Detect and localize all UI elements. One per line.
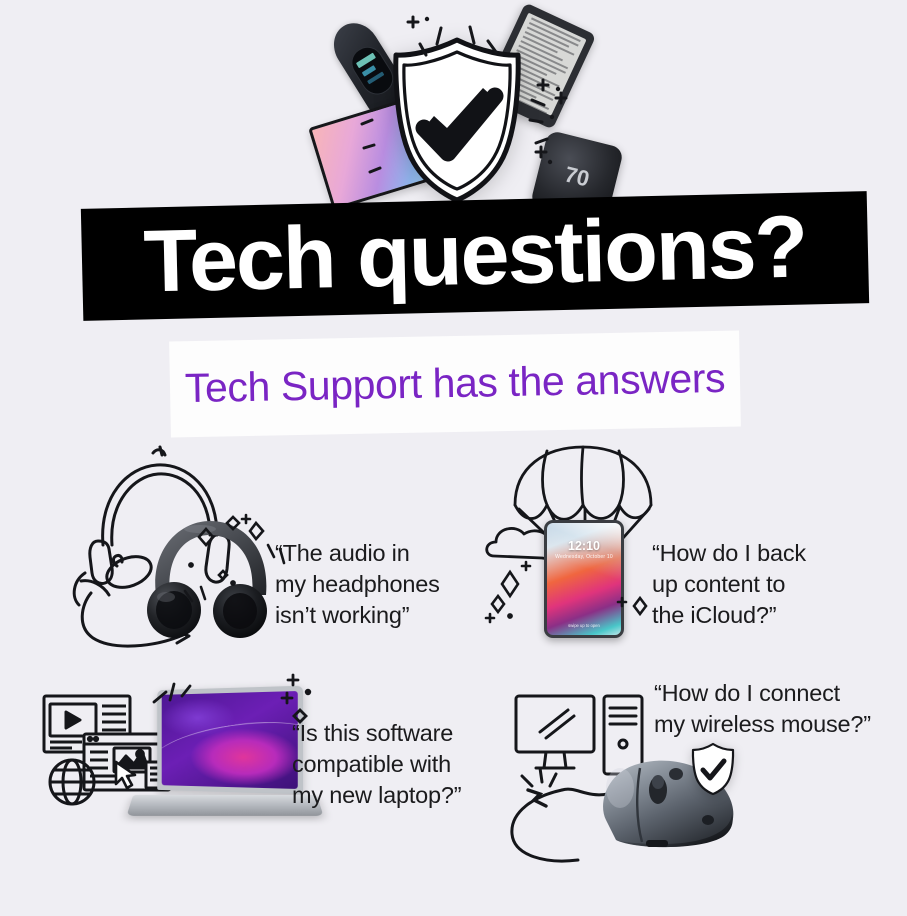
sparkle-doodles-icloud-left [482, 558, 552, 644]
tablet-clock: 12:10 [547, 539, 621, 553]
tablet-swipe-hint: swipe up to open [568, 623, 600, 628]
sparkle-doodles-laptop-left [148, 672, 208, 722]
quote-text-icloud: “How do I back up content to the iCloud?… [652, 538, 852, 631]
quote-text-headphones: “The audio in my headphones isn’t workin… [275, 538, 455, 631]
quote-text-software: “Is this software compatible with my new… [292, 718, 482, 811]
subtitle-text: Tech Support has the answers [184, 354, 725, 411]
subtitle-banner: Tech Support has the answers [169, 331, 741, 438]
tablet-screen: 12:10 Wednesday, October 10 swipe up to … [547, 523, 621, 635]
hero-illustration: 70 [300, 0, 620, 215]
hero-sparkle-doodles [300, 0, 620, 215]
tablet-date: Wednesday, October 10 [547, 554, 621, 560]
shield-check-badge-icon [690, 742, 736, 796]
headline-banner: Tech questions? [81, 191, 869, 321]
quote-text-mouse: “How do I connect my wireless mouse?” [654, 678, 884, 740]
page-title: Tech questions? [143, 202, 807, 305]
tech-support-promo-poster: 70 [0, 0, 907, 916]
